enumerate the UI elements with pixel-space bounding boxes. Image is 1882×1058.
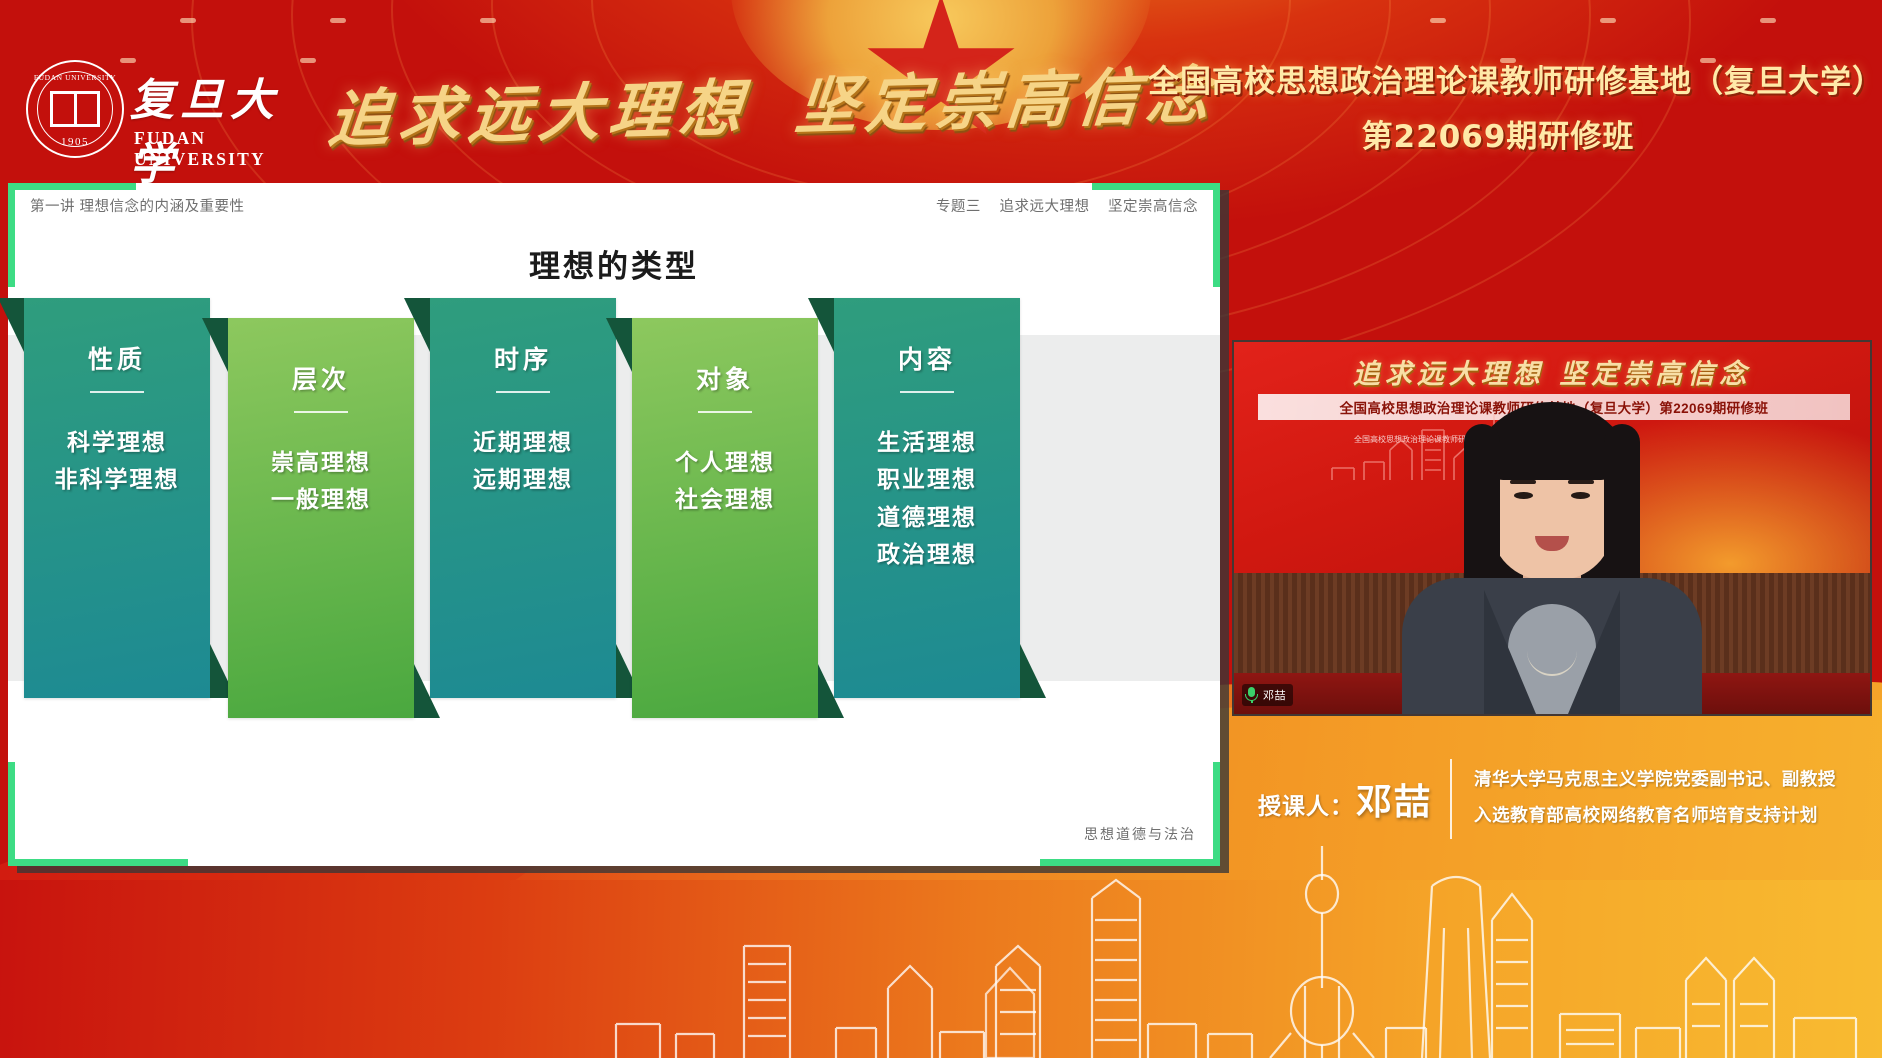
card-item: 政治理想 bbox=[834, 537, 1020, 574]
card-item-list: 生活理想职业理想道德理想政治理想 bbox=[834, 425, 1020, 604]
card-item: 近期理想 bbox=[430, 425, 616, 462]
card-item: 崇高理想 bbox=[228, 445, 414, 482]
card-heading: 时序 bbox=[430, 340, 616, 376]
avatar-brow-right bbox=[1568, 480, 1594, 484]
slide-corner-accent-tl-h bbox=[8, 183, 136, 190]
avatar-brow-left bbox=[1510, 480, 1536, 484]
avatar-eye-right bbox=[1571, 492, 1590, 499]
ideal-type-card: 对象个人理想社会理想 bbox=[632, 318, 818, 718]
slide-corner-accent-tr-h bbox=[1092, 183, 1220, 190]
card-item: 社会理想 bbox=[632, 482, 818, 519]
speaker-credentials: 清华大学马克思主义学院党委副书记、副教授 入选教育部高校网络教育名师培育支持计划 bbox=[1474, 763, 1836, 835]
speaker-info-strip: 授课人： 邓喆 清华大学马克思主义学院党委副书记、副教授 入选教育部高校网络教育… bbox=[1232, 740, 1882, 858]
card-fold-bottom-right bbox=[1020, 644, 1046, 698]
ideal-type-card: 层次崇高理想一般理想 bbox=[228, 318, 414, 718]
speaker-video-panel[interactable]: 追求远大理想 坚定崇高信念 全国高校思想政治理论课教师研修基地（复旦大学）第22… bbox=[1232, 340, 1872, 716]
card-item: 个人理想 bbox=[632, 445, 818, 482]
card-fold-top-left bbox=[404, 298, 430, 352]
card-item-list: 近期理想远期理想 bbox=[430, 425, 616, 530]
microphone-icon[interactable] bbox=[1245, 687, 1258, 703]
card-rule-divider bbox=[900, 391, 954, 393]
slide-footer-course-name: 思想道德与法治 bbox=[1084, 824, 1196, 844]
slide-corner-accent-br-v bbox=[1213, 762, 1220, 866]
card-rule-divider bbox=[698, 411, 752, 413]
presentation-slide[interactable]: 第一讲 理想信念的内涵及重要性 专题三 追求远大理想 坚定崇高信念 理想的类型 … bbox=[8, 183, 1220, 866]
card-rule-divider bbox=[90, 391, 144, 393]
avatar-hair-top bbox=[1483, 406, 1621, 480]
speaker-label: 授课人： bbox=[1258, 787, 1354, 821]
ideal-type-card: 性质科学理想非科学理想 bbox=[24, 298, 210, 698]
speaker-title-line-2: 入选教育部高校网络教育名师培育支持计划 bbox=[1474, 799, 1836, 835]
card-item-list: 科学理想非科学理想 bbox=[24, 425, 210, 530]
seal-glyph bbox=[50, 91, 100, 127]
page-header: FUDAN UNIVERSITY 1905 复旦大学 FUDAN UNIVERS… bbox=[0, 0, 1882, 172]
card-rule-divider bbox=[294, 411, 348, 413]
avatar-eye-left bbox=[1514, 492, 1533, 499]
card-fold-top-left bbox=[606, 318, 632, 372]
card-fold-top-left bbox=[808, 298, 834, 352]
seal-year: 1905 bbox=[28, 136, 122, 148]
ideal-type-card: 时序近期理想远期理想 bbox=[430, 298, 616, 698]
slide-topic-part-a: 追求远大理想 bbox=[999, 199, 1089, 215]
slide-topic-number: 专题三 bbox=[936, 199, 981, 215]
conference-base-title: 全国高校思想政治理论课教师研修基地（复旦大学） bbox=[1148, 56, 1848, 101]
slide-corner-accent-tl-v bbox=[8, 183, 15, 287]
slide-corner-accent-br-h bbox=[1040, 859, 1220, 866]
card-item: 职业理想 bbox=[834, 462, 1020, 499]
calligraphy-slogan: 追求远大理想 坚定崇高信念 bbox=[323, 33, 1127, 173]
card-heading: 内容 bbox=[834, 340, 1020, 376]
participant-name: 邓喆 bbox=[1263, 687, 1286, 703]
slide-title: 理想的类型 bbox=[8, 241, 1220, 286]
card-item: 远期理想 bbox=[430, 462, 616, 499]
speaker-name-block: 授课人： 邓喆 bbox=[1232, 773, 1432, 825]
card-heading: 性质 bbox=[24, 340, 210, 376]
ideal-type-card: 内容生活理想职业理想道德理想政治理想 bbox=[834, 298, 1020, 698]
fudan-university-logo: FUDAN UNIVERSITY 1905 复旦大学 FUDAN UNIVERS… bbox=[26, 58, 298, 162]
slide-corner-accent-bl-v bbox=[8, 762, 15, 866]
card-fold-top-left bbox=[0, 298, 24, 352]
card-item: 道德理想 bbox=[834, 500, 1020, 537]
participant-name-badge[interactable]: 邓喆 bbox=[1242, 684, 1293, 706]
card-item-list: 个人理想社会理想 bbox=[632, 445, 818, 550]
speaker-title-line-1: 清华大学马克思主义学院党委副书记、副教授 bbox=[1474, 763, 1836, 799]
seal-top-text: FUDAN UNIVERSITY bbox=[28, 73, 122, 82]
card-fold-top-left bbox=[202, 318, 228, 372]
card-item: 生活理想 bbox=[834, 425, 1020, 462]
card-item: 非科学理想 bbox=[24, 462, 210, 499]
slide-corner-accent-tr-v bbox=[1213, 183, 1220, 287]
slide-topic-label: 专题三 追求远大理想 坚定崇高信念 bbox=[922, 195, 1198, 216]
card-heading: 层次 bbox=[228, 360, 414, 396]
conference-session-title: 第22069期研修班 bbox=[1148, 111, 1848, 156]
speaker-divider bbox=[1450, 759, 1452, 839]
card-item: 一般理想 bbox=[228, 482, 414, 519]
calligraphy-left: 追求远大理想 bbox=[325, 57, 755, 159]
slide-corner-accent-bl-h bbox=[8, 859, 188, 866]
card-heading: 对象 bbox=[632, 360, 818, 396]
fudan-seal-icon: FUDAN UNIVERSITY 1905 bbox=[26, 60, 124, 158]
ideal-type-cards: 性质科学理想非科学理想层次崇高理想一般理想时序近期理想远期理想对象个人理想社会理… bbox=[16, 298, 1212, 818]
slide-header-bar: 第一讲 理想信念的内涵及重要性 专题三 追求远大理想 坚定崇高信念 bbox=[8, 183, 1220, 227]
avatar-necklace bbox=[1527, 626, 1577, 676]
speaker-name: 邓喆 bbox=[1356, 773, 1432, 825]
card-item: 科学理想 bbox=[24, 425, 210, 462]
card-rule-divider bbox=[496, 391, 550, 393]
slide-lecture-label: 第一讲 理想信念的内涵及重要性 bbox=[30, 195, 245, 216]
slide-topic-part-b: 坚定崇高信念 bbox=[1108, 199, 1198, 215]
speaker-avatar bbox=[1392, 384, 1712, 714]
card-item-list: 崇高理想一般理想 bbox=[228, 445, 414, 550]
university-name-en: FUDAN UNIVERSITY bbox=[134, 128, 298, 170]
conference-title-block: 全国高校思想政治理论课教师研修基地（复旦大学） 第22069期研修班 bbox=[1148, 56, 1848, 156]
